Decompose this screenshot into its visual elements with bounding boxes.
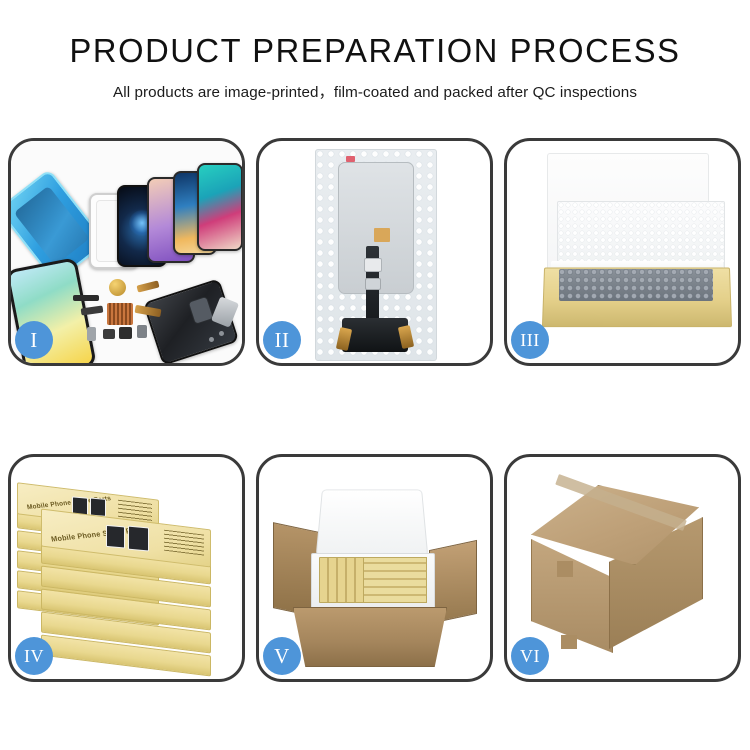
step-panel-6[interactable]: VI bbox=[504, 454, 741, 682]
step-panel-3[interactable]: III bbox=[504, 138, 741, 366]
carton-body-icon bbox=[293, 607, 447, 667]
step-badge-1: I bbox=[15, 321, 53, 359]
camera-module-icon bbox=[103, 329, 115, 339]
step-badge-2: II bbox=[263, 321, 301, 359]
tape-icon bbox=[374, 228, 390, 242]
step-panel-2[interactable]: II bbox=[256, 138, 493, 366]
packed-boxes-2-icon bbox=[363, 557, 427, 603]
teal-phone-icon bbox=[197, 163, 242, 251]
page-subtitle: All products are image-printed，film-coat… bbox=[0, 80, 750, 102]
step-panel-5[interactable]: V bbox=[256, 454, 493, 682]
step-badge-6: VI bbox=[511, 637, 549, 675]
speaker-part-icon bbox=[73, 295, 99, 301]
sim-tray-icon bbox=[87, 327, 96, 341]
bubble-wrap-icon bbox=[315, 149, 437, 361]
driver-ic-2-icon bbox=[365, 278, 381, 290]
box-print-textblock bbox=[164, 530, 204, 556]
coil-part-icon bbox=[109, 279, 126, 296]
carton-label-2-icon bbox=[561, 635, 577, 649]
page-title: PRODUCT PREPARATION PROCESS bbox=[4, 34, 747, 67]
box-print-image bbox=[128, 526, 149, 552]
step-badge-3: III bbox=[511, 321, 549, 359]
driver-ic-icon bbox=[364, 258, 382, 272]
step-panel-4[interactable]: Mobile Phone Spare Parts Mobile Phone Sp… bbox=[8, 454, 245, 682]
page-header: PRODUCT PREPARATION PROCESS All products… bbox=[0, 0, 750, 102]
screw-icon bbox=[209, 337, 214, 342]
step-badge-4: IV bbox=[15, 637, 53, 675]
step-panel-1[interactable]: I bbox=[8, 138, 245, 366]
carton-label-icon bbox=[557, 561, 573, 577]
process-steps-grid: I II III bbox=[8, 138, 742, 682]
red-label-icon bbox=[346, 156, 355, 162]
screw-2-icon bbox=[219, 331, 224, 336]
step-badge-5: V bbox=[263, 637, 301, 675]
pcb-board-icon bbox=[342, 318, 408, 352]
battery-cell-icon bbox=[137, 325, 147, 338]
grey-foam-icon bbox=[559, 269, 713, 301]
styrofoam-lid-icon bbox=[316, 489, 429, 556]
vibrator-icon bbox=[119, 327, 132, 339]
box-print-image bbox=[106, 525, 125, 549]
connector-chip-icon bbox=[107, 303, 133, 325]
